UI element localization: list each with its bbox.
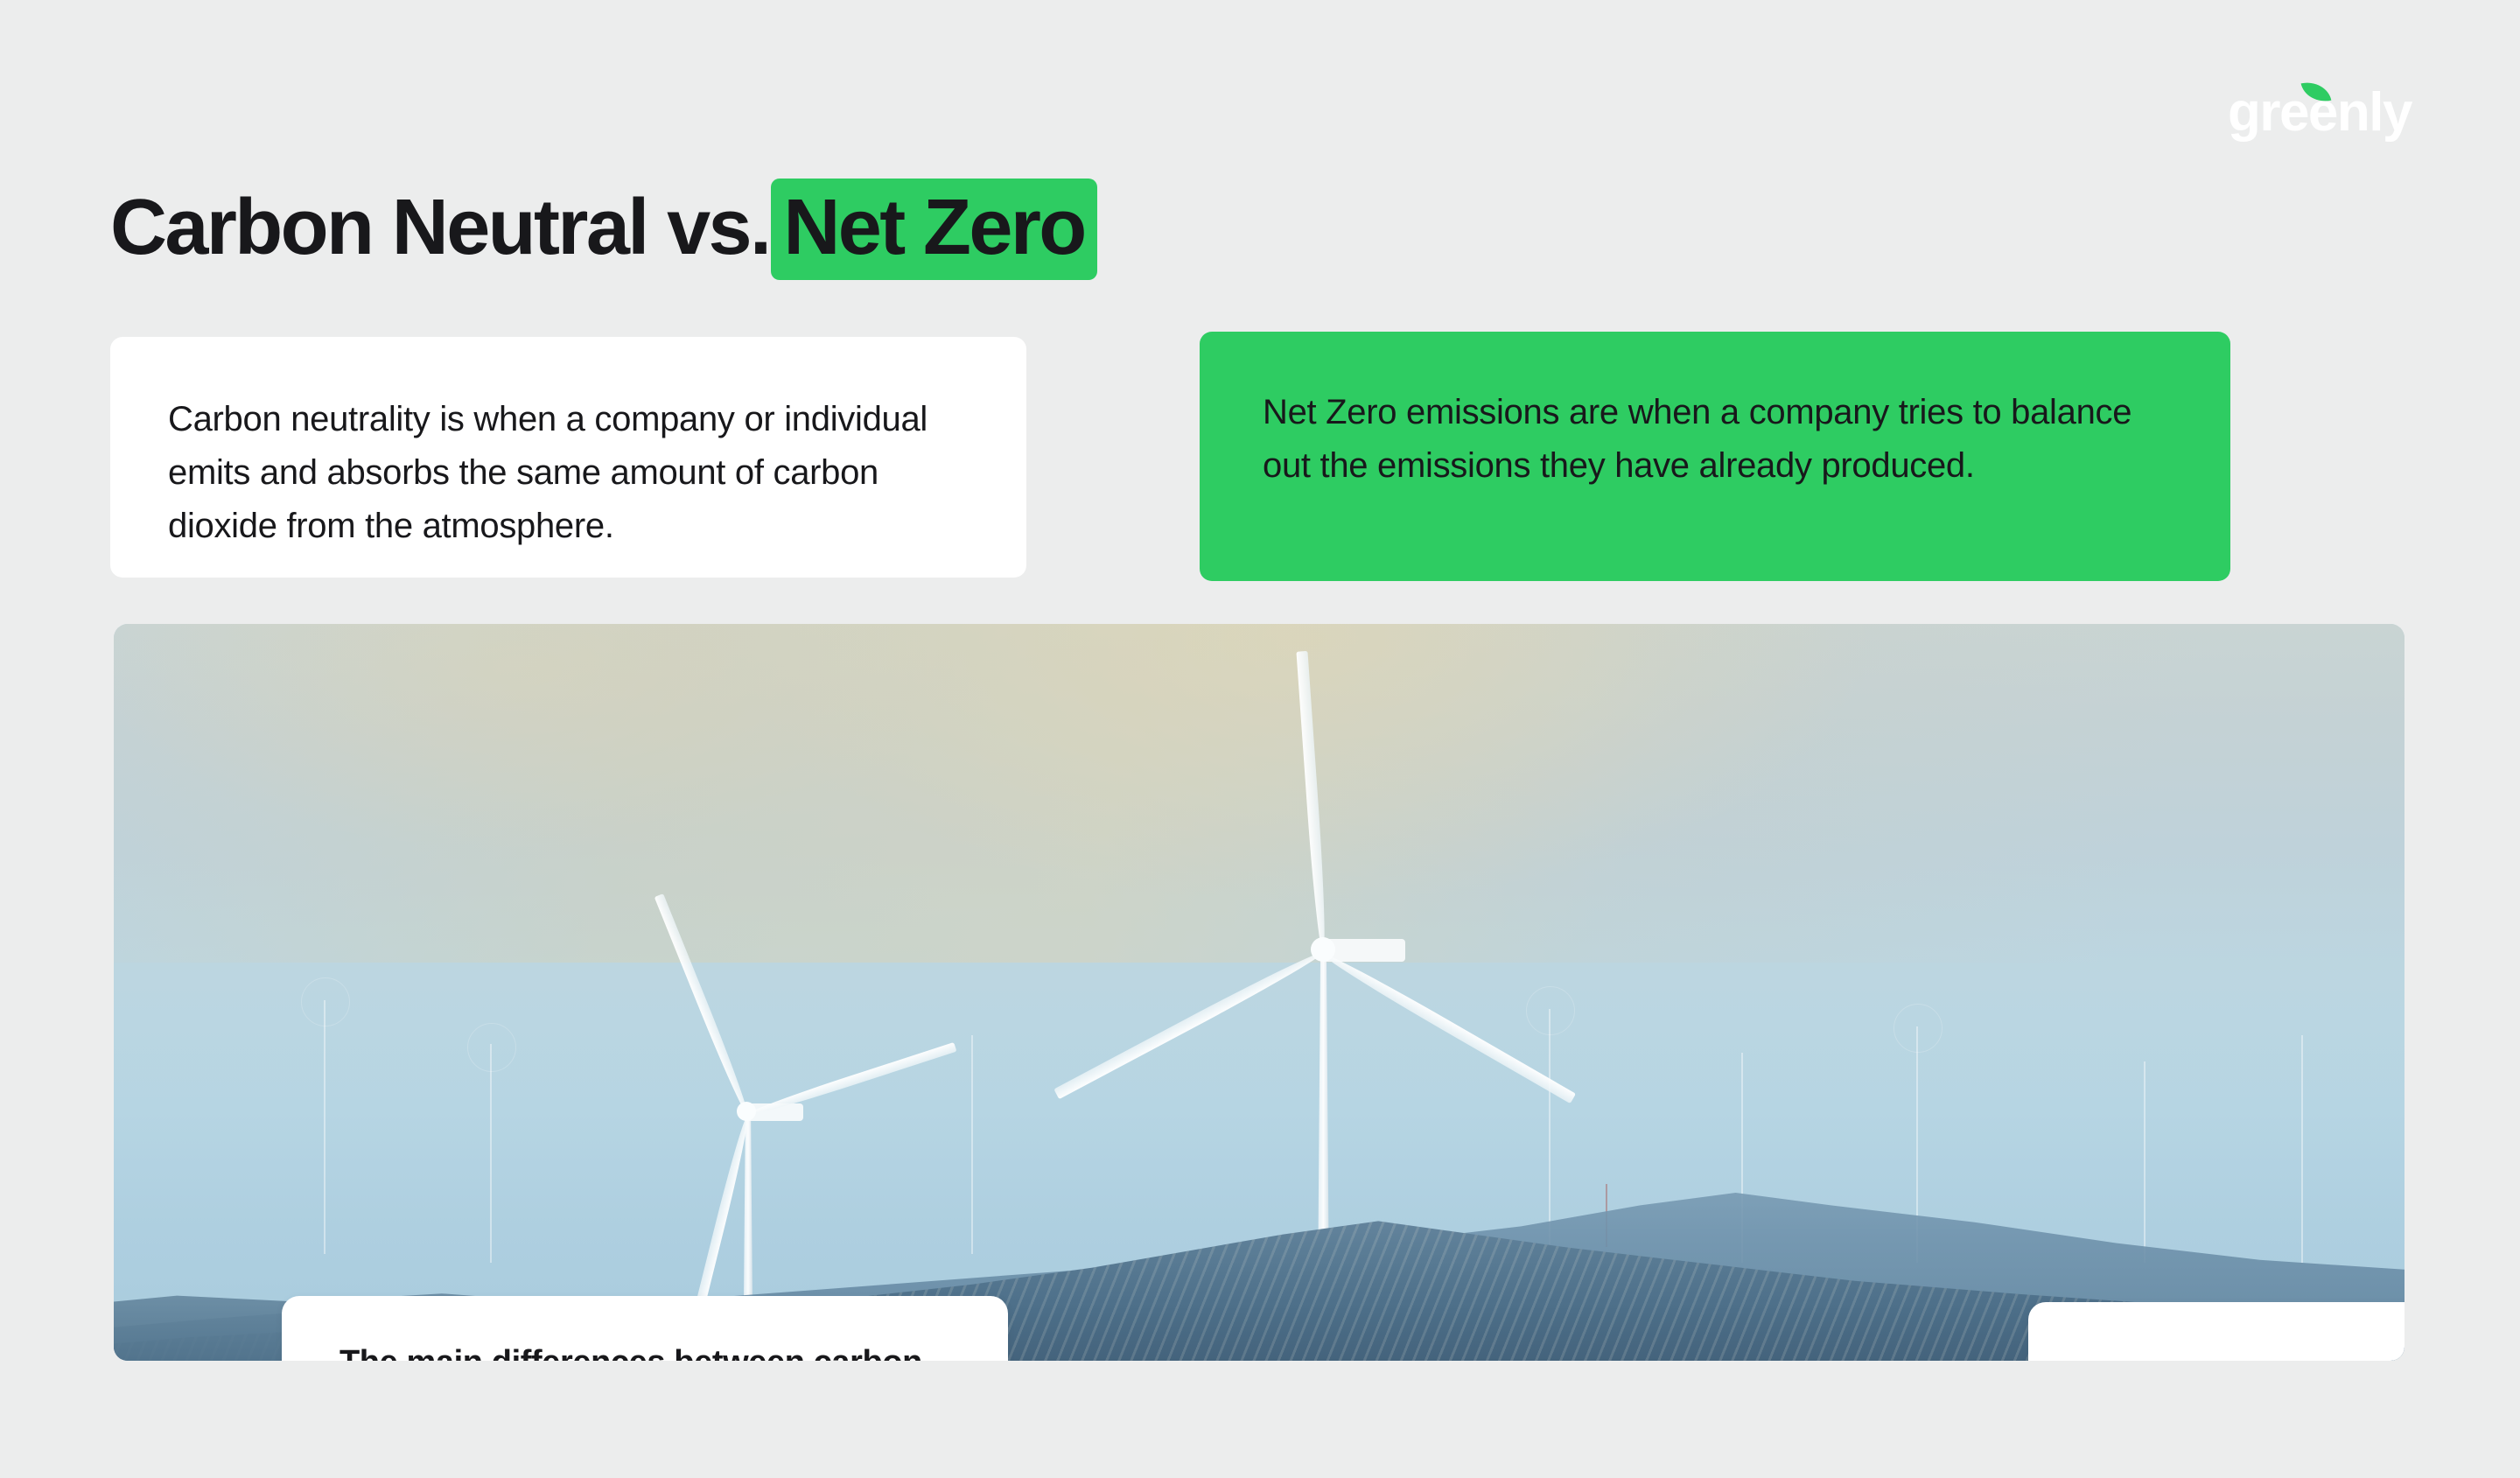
- page-title-plain: Carbon Neutral vs.: [110, 184, 769, 271]
- turbine-hub: [1311, 937, 1335, 962]
- greenly-logo: greenly: [2228, 77, 2411, 140]
- distant-turbine-2-blades: [467, 1023, 516, 1072]
- distant-turbine-4-blades: [1526, 986, 1575, 1035]
- card-main-differences: The main differences between carbon neut…: [282, 1296, 1008, 1361]
- haze-overlay: [114, 624, 2404, 963]
- turbine-hub: [737, 1102, 756, 1121]
- page-title-highlight: Net Zero: [771, 179, 1096, 280]
- card-however-text: However, it is still important for compa…: [2082, 1355, 2404, 1361]
- photo-panel: The main differences between carbon neut…: [114, 624, 2404, 1361]
- infographic-page: greenly Carbon Neutral vs.Net Zero Carbo…: [0, 0, 2520, 1478]
- card-carbon-neutral: Carbon neutrality is when a company or i…: [110, 337, 1026, 578]
- card-net-zero: Net Zero emissions are when a company tr…: [1200, 332, 2230, 581]
- distant-turbine-1-blades: [301, 977, 350, 1026]
- distant-turbine-6-blades: [1893, 1004, 1942, 1053]
- card-however: However, it is still important for compa…: [2028, 1302, 2404, 1361]
- page-title: Carbon Neutral vs.Net Zero: [110, 184, 1097, 272]
- card-main-differences-heading: The main differences between carbon neut…: [339, 1340, 959, 1361]
- card-net-zero-text: Net Zero emissions are when a company tr…: [1263, 386, 2174, 493]
- card-carbon-neutral-text: Carbon neutrality is when a company or i…: [168, 393, 969, 552]
